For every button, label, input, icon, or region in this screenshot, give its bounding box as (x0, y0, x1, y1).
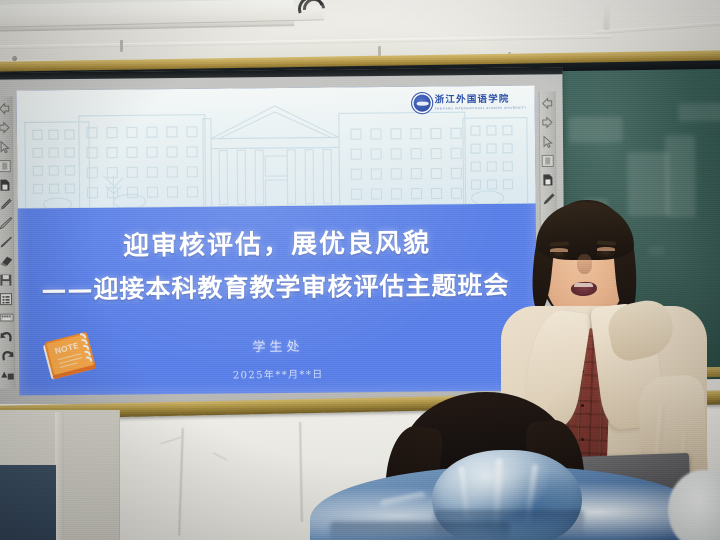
whiteboard-left-toolbar[interactable] (0, 97, 15, 389)
university-name-en: ZHEJIANG INTERNATIONAL STUDIES UNIVERSIT… (435, 106, 527, 110)
cabinet-edge (55, 412, 64, 540)
cable-conduit-branch (595, 21, 720, 34)
presenter-nose (577, 254, 592, 274)
slide-header-band: 浙江外国语学院 ZHEJIANG INTERNATIONAL STUDIES U… (17, 86, 536, 209)
university-seal-icon (414, 95, 431, 112)
cursor-pointer-icon[interactable] (0, 138, 12, 156)
interactive-whiteboard[interactable]: 浙江外国语学院 ZHEJIANG INTERNATIONAL STUDIES U… (0, 67, 566, 417)
slide-body: 迎审核评估，展优良风貌 ——迎接本科教育教学审核评估主题班会 学生处 2025年… (18, 204, 538, 396)
cabinet-dark-panel (0, 465, 56, 540)
document-icon[interactable] (0, 176, 13, 194)
undo-icon[interactable] (0, 328, 14, 346)
redo-icon[interactable] (0, 347, 14, 365)
university-name-cn: 浙江外国语学院 (435, 95, 527, 105)
forward-arrow-icon[interactable] (540, 113, 555, 131)
save-floppy-icon[interactable] (0, 271, 13, 289)
document-icon[interactable] (540, 170, 555, 188)
keyboard-icon[interactable] (0, 309, 14, 327)
forward-arrow-icon[interactable] (0, 119, 12, 137)
page-icon[interactable] (540, 151, 555, 169)
cursor-pointer-icon[interactable] (540, 132, 555, 150)
cable-conduit-riser (603, 0, 610, 30)
list-icon[interactable] (0, 290, 14, 308)
slide-subtitle: ——迎接本科教育教学审核评估主题班会 (17, 265, 538, 306)
foreground-student (370, 392, 670, 540)
shapes-icon[interactable] (0, 366, 14, 384)
notebook-icon: NOTE (41, 329, 103, 382)
wall-screw (12, 56, 17, 61)
conduit-clamp (120, 40, 123, 52)
upper-wall (0, 0, 720, 60)
pen-icon[interactable] (0, 214, 13, 232)
page-icon[interactable] (0, 157, 12, 175)
cable-conduit (0, 35, 612, 50)
back-arrow-icon[interactable] (540, 94, 555, 112)
pencil-icon[interactable] (0, 233, 13, 251)
eraser-icon[interactable] (0, 252, 13, 270)
presentation-slide[interactable]: 浙江外国语学院 ZHEJIANG INTERNATIONAL STUDIES U… (17, 86, 538, 396)
classroom-scene: 浙江外国语学院 ZHEJIANG INTERNATIONAL STUDIES U… (0, 0, 720, 540)
university-logo: 浙江外国语学院 ZHEJIANG INTERNATIONAL STUDIES U… (414, 94, 527, 112)
slide-title: 迎审核评估，展优良风貌 (18, 222, 536, 264)
marker-icon[interactable] (0, 195, 13, 213)
back-arrow-icon[interactable] (0, 100, 12, 118)
